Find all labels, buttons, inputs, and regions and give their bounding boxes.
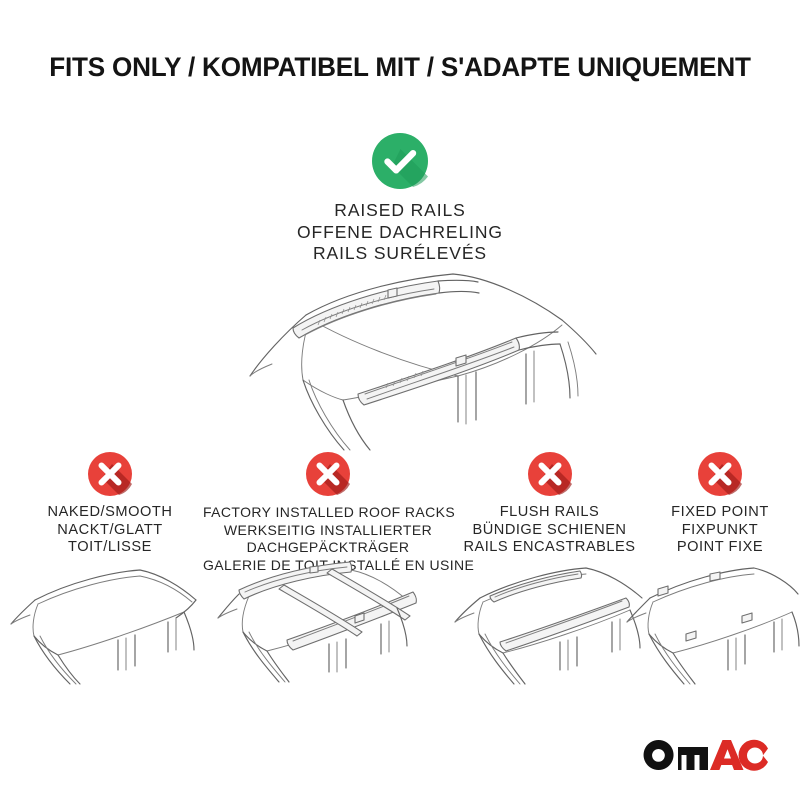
excluded-label-en: FACTORY INSTALLED ROOF RACKS xyxy=(203,504,453,522)
cross-circle-icon xyxy=(88,452,132,496)
excluded-labels: FLUSH RAILS BÜNDIGE SCHIENEN RAILS ENCAS… xyxy=(452,504,647,557)
excluded-label-de: BÜNDIGE SCHIENEN xyxy=(452,522,647,540)
car-roof-fixed-point-illustration xyxy=(618,560,800,685)
check-circle-icon xyxy=(372,133,428,189)
compatible-section: RAISED RAILS OFFENE DACHRELING RAILS SUR… xyxy=(0,133,800,265)
excluded-label-en: NAKED/SMOOTH xyxy=(4,504,216,522)
compatible-label-de: OFFENE DACHRELING xyxy=(0,222,800,244)
excluded-label-fr: POINT FIXE xyxy=(640,539,800,557)
excluded-item-fixed-point: FIXED POINT FIXPUNKT POINT FIXE xyxy=(640,452,800,557)
car-roof-factory-roof-racks-illustration xyxy=(205,560,450,685)
car-roof-with-raised-rails-illustration xyxy=(210,272,600,452)
excluded-label-fr: TOIT/LISSE xyxy=(4,539,216,557)
excluded-item-naked-smooth: NAKED/SMOOTH NACKT/GLATT TOIT/LISSE xyxy=(4,452,216,557)
excluded-item-factory-roof-racks: FACTORY INSTALLED ROOF RACKS WERKSEITIG … xyxy=(203,452,453,574)
page-title: FITS ONLY / KOMPATIBEL MIT / S'ADAPTE UN… xyxy=(6,52,794,83)
excluded-label-de-2: DACHGEPÄCKTRÄGER xyxy=(203,539,453,557)
excluded-item-flush-rails: FLUSH RAILS BÜNDIGE SCHIENEN RAILS ENCAS… xyxy=(452,452,647,557)
excluded-label-de-1: WERKSEITIG INSTALLIERTER xyxy=(203,522,453,540)
compatible-label-en: RAISED RAILS xyxy=(0,200,800,222)
excluded-label-de: NACKT/GLATT xyxy=(4,522,216,540)
omac-logo: OMAC xyxy=(640,736,770,776)
excluded-label-fr: RAILS ENCASTRABLES xyxy=(452,539,647,557)
cross-circle-icon xyxy=(528,452,572,496)
compatible-label-fr: RAILS SURÉLEVÉS xyxy=(0,243,800,265)
compatibility-infographic: FITS ONLY / KOMPATIBEL MIT / S'ADAPTE UN… xyxy=(0,0,800,800)
not-compatible-section: NAKED/SMOOTH NACKT/GLATT TOIT/LISSE FACT… xyxy=(0,452,800,692)
car-roof-naked-smooth-illustration xyxy=(0,560,200,685)
cross-circle-icon xyxy=(306,452,350,496)
excluded-label-en: FIXED POINT xyxy=(640,504,800,522)
excluded-labels: FIXED POINT FIXPUNKT POINT FIXE xyxy=(640,504,800,557)
excluded-label-de: FIXPUNKT xyxy=(640,522,800,540)
excluded-label-en: FLUSH RAILS xyxy=(452,504,647,522)
cross-circle-icon xyxy=(698,452,742,496)
compatible-labels: RAISED RAILS OFFENE DACHRELING RAILS SUR… xyxy=(0,200,800,265)
excluded-labels: NAKED/SMOOTH NACKT/GLATT TOIT/LISSE xyxy=(4,504,216,557)
